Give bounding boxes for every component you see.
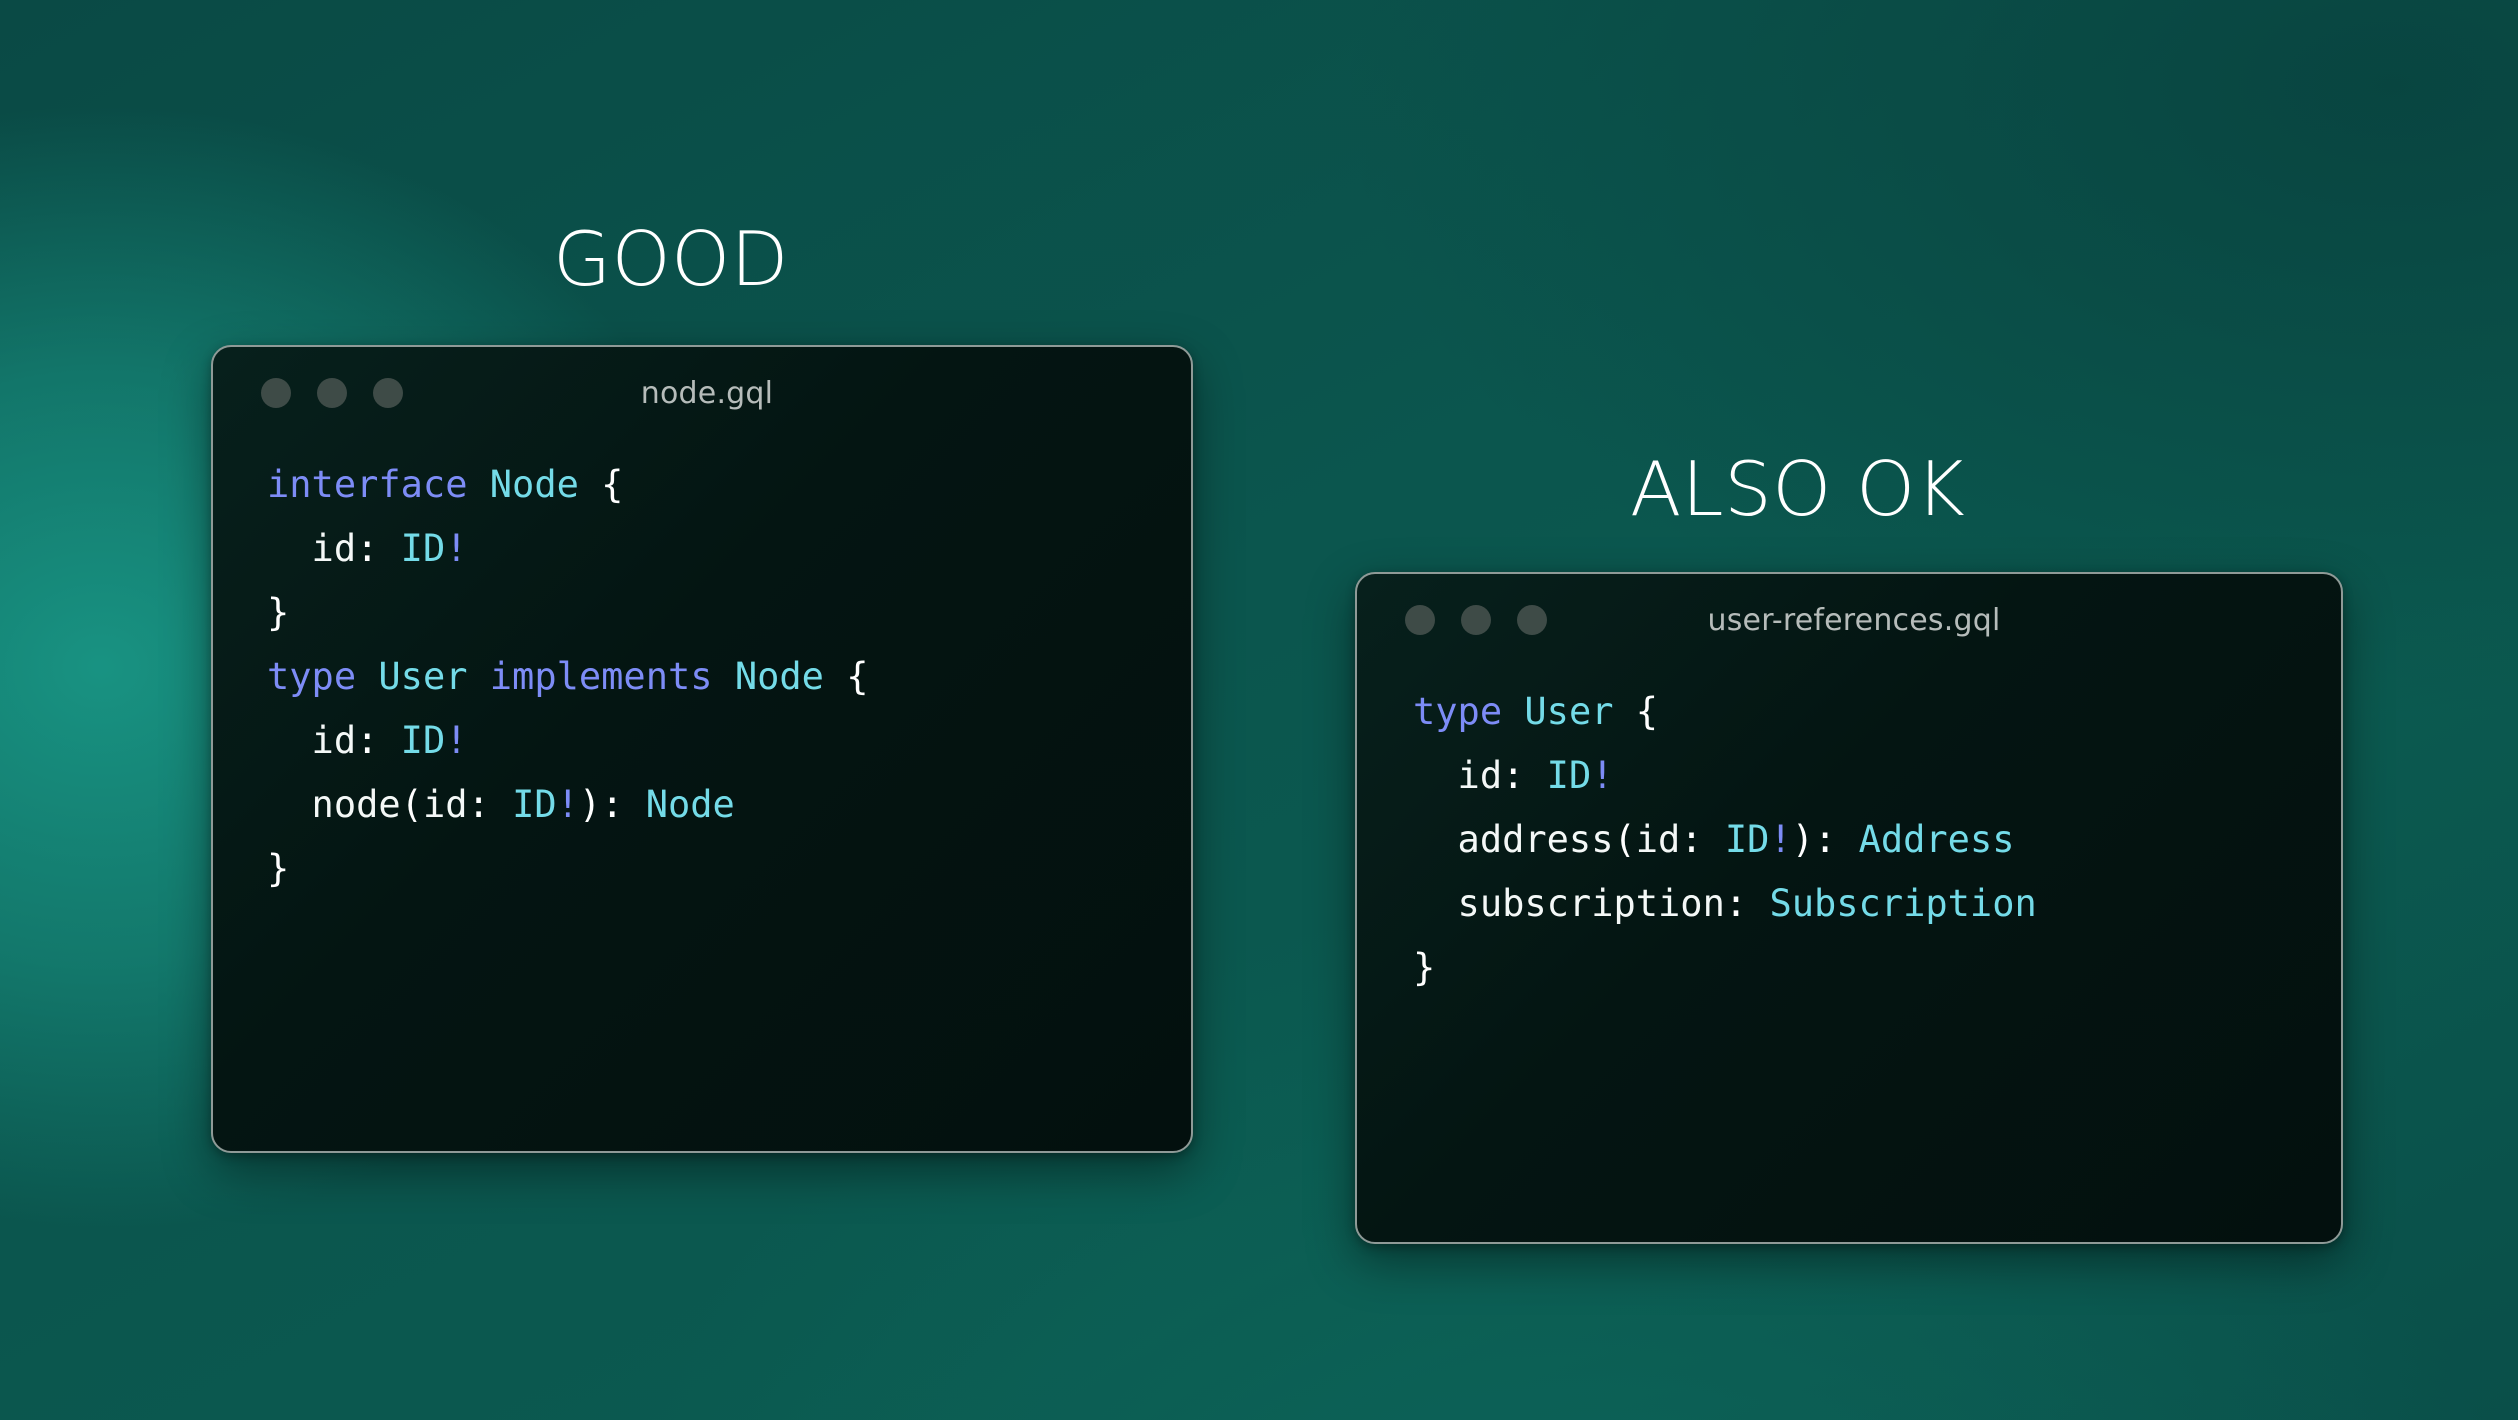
code-token-punctuation: { xyxy=(601,463,623,506)
code-token-plain: id xyxy=(267,719,356,762)
code-token-type: Node xyxy=(646,783,735,826)
code-window-also-ok[interactable]: user-references.gql type User { id: ID! … xyxy=(1355,572,2343,1244)
code-line: id: ID! xyxy=(267,709,1191,773)
minimize-dot-icon[interactable] xyxy=(317,378,347,408)
code-token-plain xyxy=(468,655,490,698)
code-token-type: Address xyxy=(1859,818,2015,861)
code-token-punctuation: : xyxy=(1502,754,1547,797)
code-token-plain xyxy=(824,655,846,698)
code-token-punctuation: } xyxy=(267,847,289,890)
code-token-punctuation: ( xyxy=(1613,818,1635,861)
code-token-keyword: ! xyxy=(445,527,467,570)
code-token-plain: node xyxy=(267,783,401,826)
code-token-punctuation: : xyxy=(1725,882,1770,925)
code-token-type: ID xyxy=(512,783,557,826)
maximize-dot-icon[interactable] xyxy=(373,378,403,408)
code-line: id: ID! xyxy=(1413,744,2341,808)
code-line: } xyxy=(1413,936,2341,1000)
code-token-punctuation: } xyxy=(1413,946,1435,989)
code-line: type User implements Node { xyxy=(267,645,1191,709)
section-heading-also-ok: ALSO OK xyxy=(1630,452,1965,527)
code-token-type: ID xyxy=(401,527,446,570)
code-line: type User { xyxy=(1413,680,2341,744)
code-token-plain xyxy=(1502,690,1524,733)
code-token-punctuation: : xyxy=(356,527,401,570)
stage: GOOD node.gql interface Node { id: ID!}t… xyxy=(0,0,2518,1420)
close-dot-icon[interactable] xyxy=(261,378,291,408)
code-token-type: User xyxy=(378,655,467,698)
code-token-keyword: ! xyxy=(1769,818,1791,861)
code-token-type: ID xyxy=(401,719,446,762)
code-window-good[interactable]: node.gql interface Node { id: ID!}type U… xyxy=(211,345,1193,1153)
code-token-punctuation: { xyxy=(846,655,868,698)
code-token-keyword: type xyxy=(267,655,356,698)
window-titlebar-good: node.gql xyxy=(213,347,1191,439)
code-token-keyword: ! xyxy=(557,783,579,826)
code-token-plain xyxy=(1614,690,1636,733)
code-line: address(id: ID!): Address xyxy=(1413,808,2341,872)
code-token-punctuation: ): xyxy=(1792,818,1859,861)
code-token-type: ID xyxy=(1725,818,1770,861)
code-token-punctuation: ( xyxy=(401,783,423,826)
code-token-punctuation: : xyxy=(356,719,401,762)
code-token-plain xyxy=(713,655,735,698)
code-token-keyword: ! xyxy=(445,719,467,762)
code-token-plain: id xyxy=(1413,754,1502,797)
minimize-dot-icon[interactable] xyxy=(1461,605,1491,635)
code-token-punctuation: { xyxy=(1636,690,1658,733)
code-line: node(id: ID!): Node xyxy=(267,773,1191,837)
window-titlebar-also-ok: user-references.gql xyxy=(1357,574,2341,666)
section-heading-good: GOOD xyxy=(553,222,789,297)
code-token-plain: id xyxy=(267,527,356,570)
code-token-punctuation: ): xyxy=(579,783,646,826)
code-token-plain: subscription xyxy=(1413,882,1725,925)
code-token-keyword: ! xyxy=(1591,754,1613,797)
code-token-plain xyxy=(467,463,489,506)
code-token-punctuation: : xyxy=(1680,818,1725,861)
code-line: } xyxy=(267,837,1191,901)
traffic-lights-also-ok xyxy=(1405,605,1547,635)
code-token-plain xyxy=(579,463,601,506)
code-line: subscription: Subscription xyxy=(1413,872,2341,936)
code-token-type: Node xyxy=(490,463,579,506)
code-block-also-ok: type User { id: ID! address(id: ID!): Ad… xyxy=(1357,666,2341,1000)
code-token-plain xyxy=(356,655,378,698)
code-token-plain: id xyxy=(1636,818,1681,861)
code-token-type: Node xyxy=(735,655,824,698)
code-token-type: Subscription xyxy=(1769,882,2036,925)
close-dot-icon[interactable] xyxy=(1405,605,1435,635)
code-token-keyword: type xyxy=(1413,690,1502,733)
maximize-dot-icon[interactable] xyxy=(1517,605,1547,635)
traffic-lights-good xyxy=(261,378,403,408)
code-token-punctuation: : xyxy=(468,783,513,826)
code-token-type: ID xyxy=(1547,754,1592,797)
code-token-keyword: implements xyxy=(490,655,713,698)
code-line: } xyxy=(267,581,1191,645)
code-token-type: User xyxy=(1524,690,1613,733)
code-token-plain: address xyxy=(1413,818,1613,861)
code-token-keyword: interface xyxy=(267,463,467,506)
code-block-good: interface Node { id: ID!}type User imple… xyxy=(213,439,1191,901)
code-line: interface Node { xyxy=(267,453,1191,517)
code-token-plain: id xyxy=(423,783,468,826)
code-line: id: ID! xyxy=(267,517,1191,581)
code-token-punctuation: } xyxy=(267,591,289,634)
